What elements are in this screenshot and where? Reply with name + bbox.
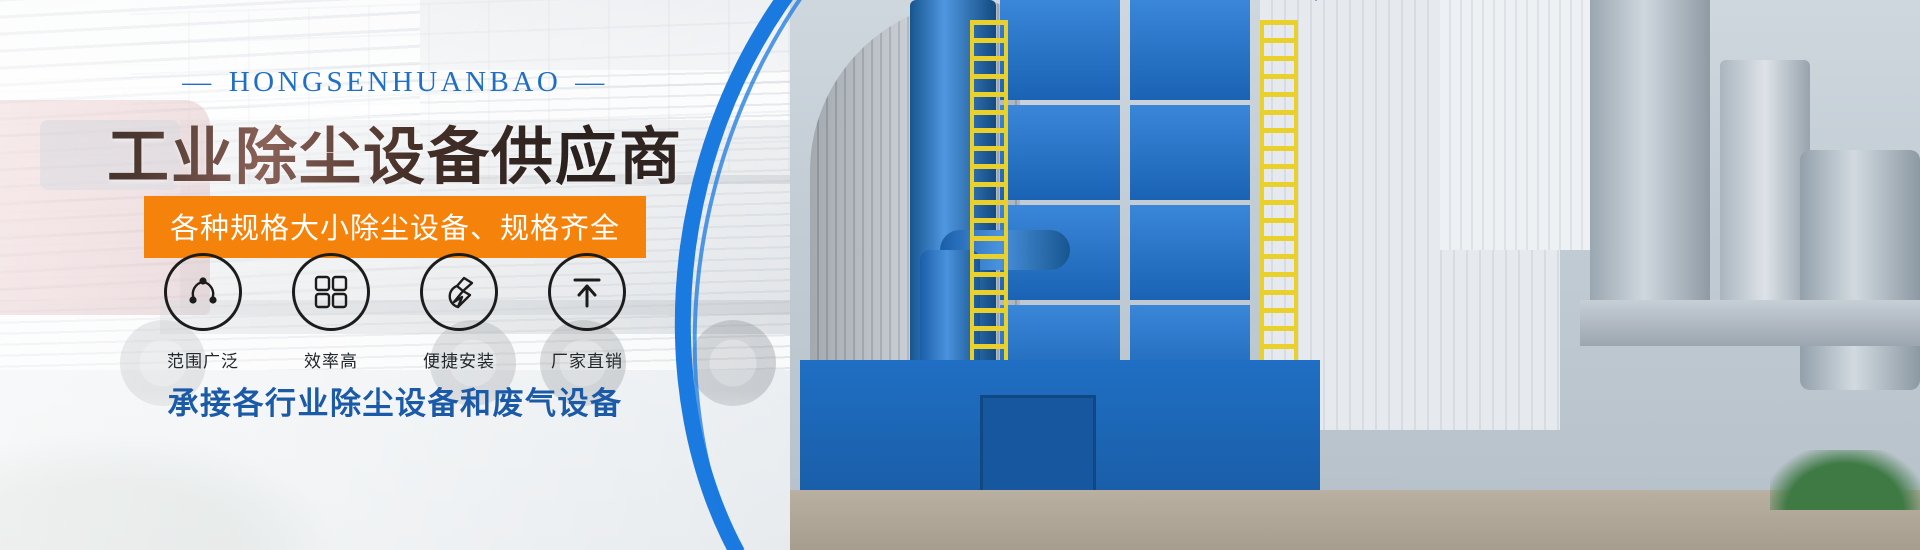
upload-arrow-icon [548,253,626,331]
feature-label: 厂家直销 [551,347,623,372]
eyebrow-dash-right: — [575,66,608,99]
feature-item-range[interactable]: 范围广泛 [163,253,243,372]
feature-label: 便捷安装 [423,347,495,372]
white-building-upper [1440,0,1610,250]
eyebrow-dash-left: — [182,66,215,99]
banner-title: 工业除尘设备供应商 [0,106,790,196]
metal-silo-secondary [1720,60,1810,330]
feature-label: 效率高 [304,347,358,372]
subtitle-orange-bar: 各种规格大小除尘设备、规格齐全 [144,196,646,258]
eyebrow-text: HONGSENHUANBAO [229,66,562,98]
feature-item-factory-direct[interactable]: 厂家直销 [547,253,627,372]
vegetation [1770,450,1920,510]
horizontal-duct [1580,300,1920,346]
hero-banner: —HONGSENHUANBAO— 工业除尘设备供应商 各种规格大小除尘设备、规格… [0,0,1920,550]
banner-tagline: 承接各行业除尘设备和废气设备 [0,378,790,423]
wrench-tool-icon [420,253,498,331]
feature-label: 范围广泛 [167,347,239,372]
banner-content: —HONGSENHUANBAO— 工业除尘设备供应商 各种规格大小除尘设备、规格… [0,0,790,550]
brand-eyebrow: —HONGSENHUANBAO— [0,66,790,99]
metal-silo [1590,0,1710,330]
cyclone-separator [1800,150,1920,390]
feature-item-installation[interactable]: 便捷安装 [419,253,499,372]
feature-list: 范围广泛 效率高 [0,253,790,372]
feature-item-efficiency[interactable]: 效率高 [291,253,371,372]
network-nodes-icon [164,253,242,331]
grid-squares-icon [292,253,370,331]
